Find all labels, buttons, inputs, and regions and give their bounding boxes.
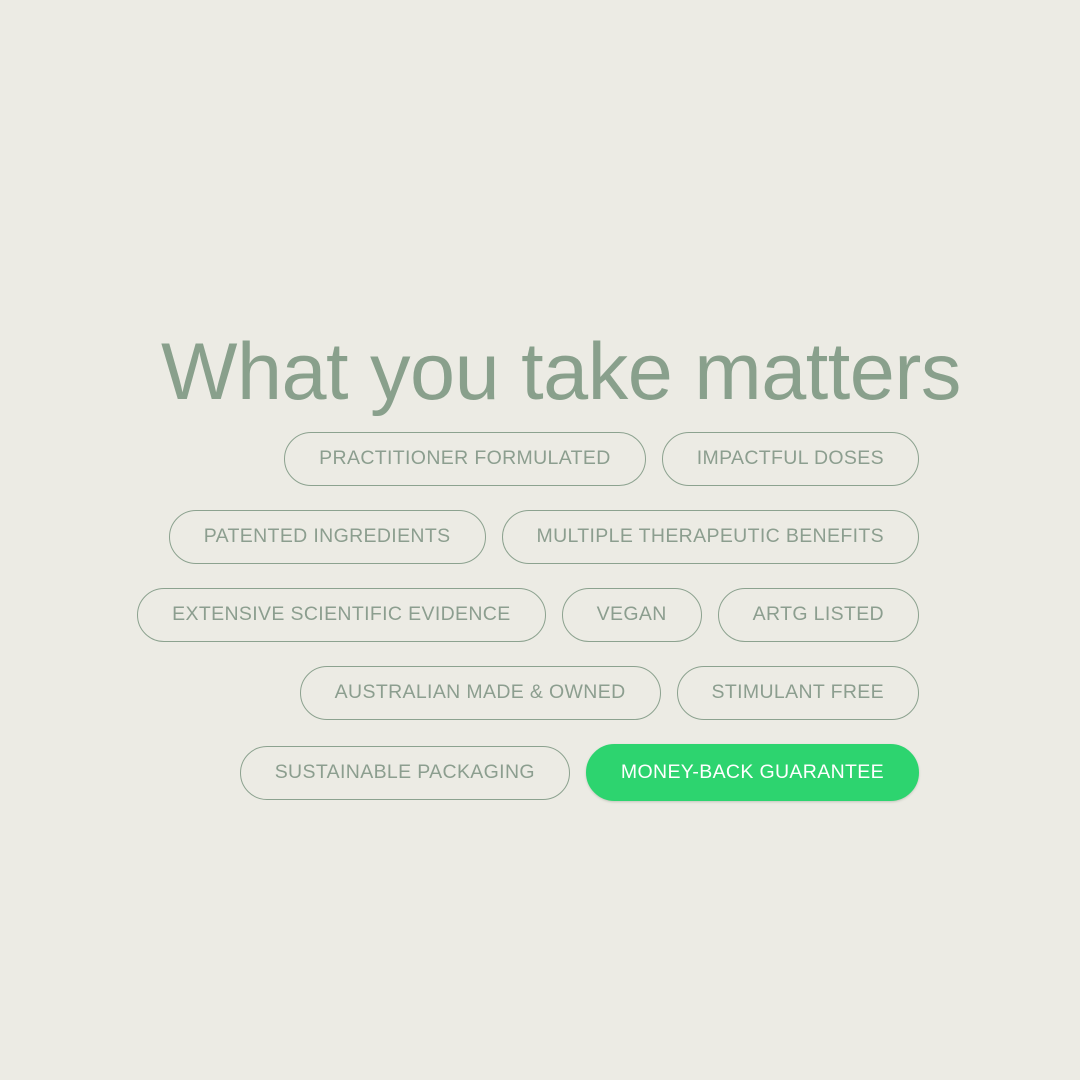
feature-badge-row: SUSTAINABLE PACKAGINGMONEY-BACK GUARANTE… — [161, 744, 919, 801]
feature-badge-row: EXTENSIVE SCIENTIFIC EVIDENCEVEGANARTG L… — [161, 588, 919, 642]
feature-badge[interactable]: IMPACTFUL DOSES — [662, 432, 919, 486]
feature-badge-list: PRACTITIONER FORMULATEDIMPACTFUL DOSESPA… — [161, 432, 919, 801]
feature-badge[interactable]: VEGAN — [562, 588, 702, 642]
content-block: What you take matters PRACTITIONER FORMU… — [161, 328, 919, 801]
feature-badge[interactable]: PATENTED INGREDIENTS — [169, 510, 486, 564]
feature-badge[interactable]: PRACTITIONER FORMULATED — [284, 432, 646, 486]
feature-badge[interactable]: EXTENSIVE SCIENTIFIC EVIDENCE — [137, 588, 545, 642]
feature-badge[interactable]: AUSTRALIAN MADE & OWNED — [300, 666, 661, 720]
feature-badge-row: AUSTRALIAN MADE & OWNEDSTIMULANT FREE — [161, 666, 919, 720]
feature-badge[interactable]: MULTIPLE THERAPEUTIC BENEFITS — [502, 510, 920, 564]
marketing-feature-panel: What you take matters PRACTITIONER FORMU… — [0, 0, 1080, 1080]
feature-badge-row: PRACTITIONER FORMULATEDIMPACTFUL DOSES — [161, 432, 919, 486]
page-title: What you take matters — [161, 328, 919, 416]
feature-badge[interactable]: STIMULANT FREE — [677, 666, 919, 720]
feature-badge-highlight[interactable]: MONEY-BACK GUARANTEE — [586, 744, 919, 801]
feature-badge-row: PATENTED INGREDIENTSMULTIPLE THERAPEUTIC… — [161, 510, 919, 564]
feature-badge[interactable]: SUSTAINABLE PACKAGING — [240, 746, 570, 800]
feature-badge[interactable]: ARTG LISTED — [718, 588, 919, 642]
